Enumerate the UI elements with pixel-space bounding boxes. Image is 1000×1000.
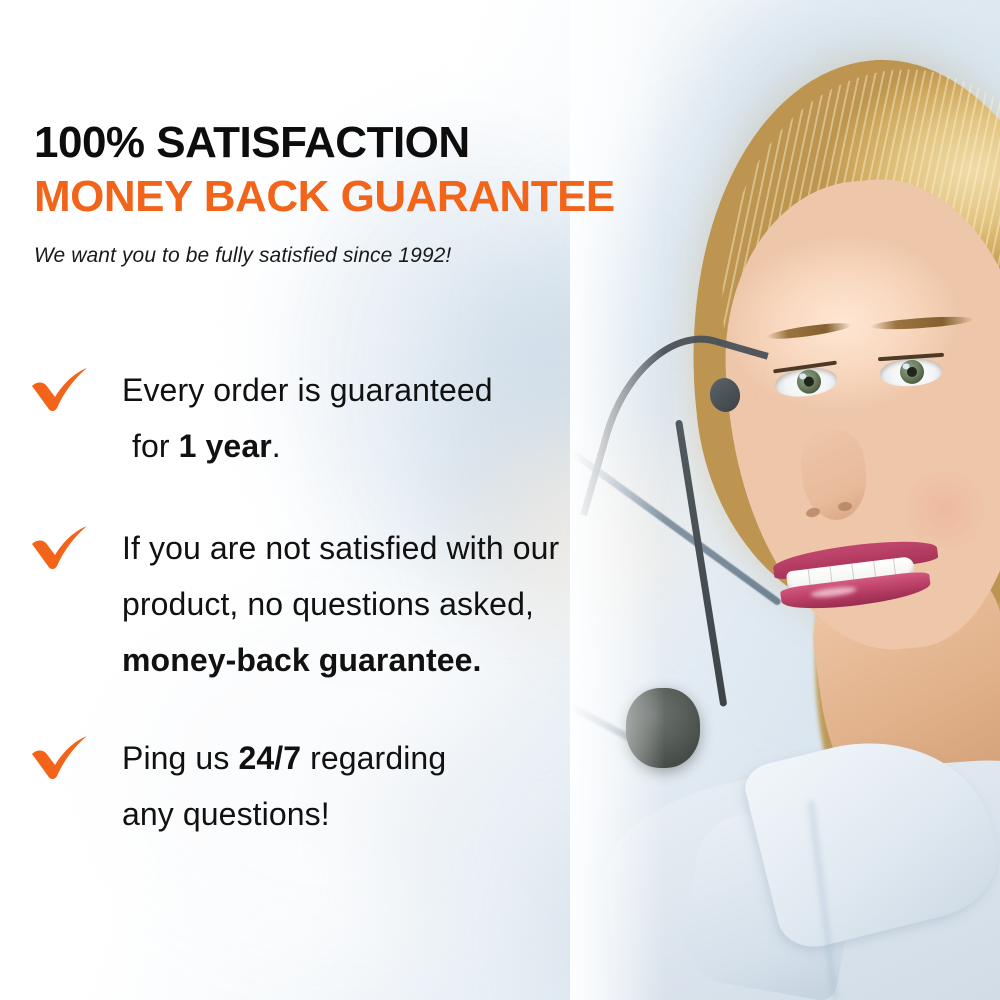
guarantee-list: Every order is guaranteed for 1 year. If… xyxy=(30,362,630,842)
photo-edge-fade xyxy=(570,0,1000,1000)
orange-checkmark-icon xyxy=(30,730,122,782)
bullet-line: product, no questions asked, xyxy=(122,576,559,632)
guarantee-banner: 100% SATISFACTION MONEY BACK GUARANTEE W… xyxy=(0,0,1000,1000)
bullet-line: Ping us 24/7 regarding xyxy=(122,730,446,786)
bullet-line: If you are not satisfied with our xyxy=(122,520,559,576)
list-item: Ping us 24/7 regarding any questions! xyxy=(30,730,630,842)
orange-checkmark-icon xyxy=(30,362,122,414)
bullet-line: money-back guarantee. xyxy=(122,632,559,688)
list-item-text: Ping us 24/7 regarding any questions! xyxy=(122,730,446,842)
subtitle: We want you to be fully satisfied since … xyxy=(34,244,451,268)
headline-line-2: MONEY BACK GUARANTEE xyxy=(34,170,615,224)
bullet-line: for 1 year. xyxy=(122,418,493,474)
orange-checkmark-icon xyxy=(30,520,122,572)
headline-line-1: 100% SATISFACTION xyxy=(34,116,615,170)
support-agent-photo xyxy=(570,0,1000,1000)
list-item: Every order is guaranteed for 1 year. xyxy=(30,362,630,474)
page-title: 100% SATISFACTION MONEY BACK GUARANTEE xyxy=(34,116,615,224)
list-item-text: If you are not satisfied with our produc… xyxy=(122,520,559,688)
list-item: If you are not satisfied with our produc… xyxy=(30,520,630,688)
list-item-text: Every order is guaranteed for 1 year. xyxy=(122,362,493,474)
bullet-line: any questions! xyxy=(122,786,446,842)
bullet-line: Every order is guaranteed xyxy=(122,362,493,418)
